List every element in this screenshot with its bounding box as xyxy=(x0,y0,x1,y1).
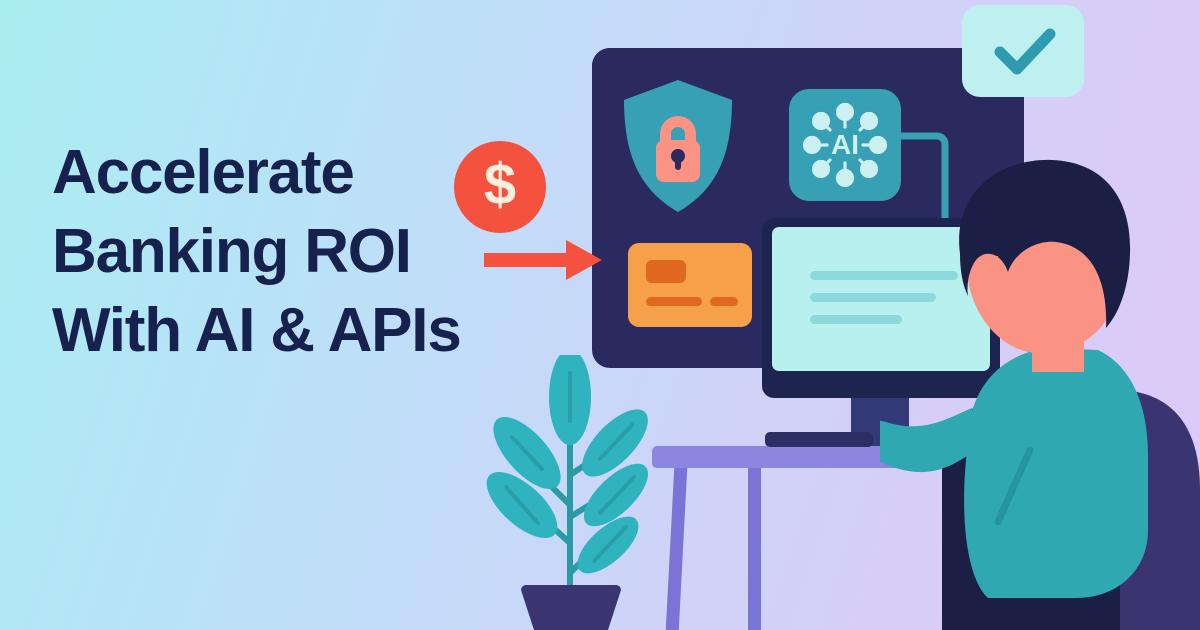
credit-card-icon xyxy=(628,243,752,327)
desk-leg xyxy=(748,468,761,630)
promo-banner: Accelerate Banking ROI With AI & APIs xyxy=(0,0,1200,630)
dollar-coin-icon: $ xyxy=(454,141,546,233)
card-chip xyxy=(646,260,686,283)
security-shield-icon xyxy=(620,78,736,214)
card-stripe-1 xyxy=(646,297,702,306)
person-illustration xyxy=(880,150,1200,630)
arrow-right-icon xyxy=(484,238,604,282)
check-badge xyxy=(962,5,1084,97)
headline-line-3: With AI & APIs xyxy=(52,291,572,370)
card-stripe-2 xyxy=(710,297,738,306)
potted-plant xyxy=(470,355,670,630)
keyboard xyxy=(765,432,873,447)
dollar-sign: $ xyxy=(484,156,516,214)
